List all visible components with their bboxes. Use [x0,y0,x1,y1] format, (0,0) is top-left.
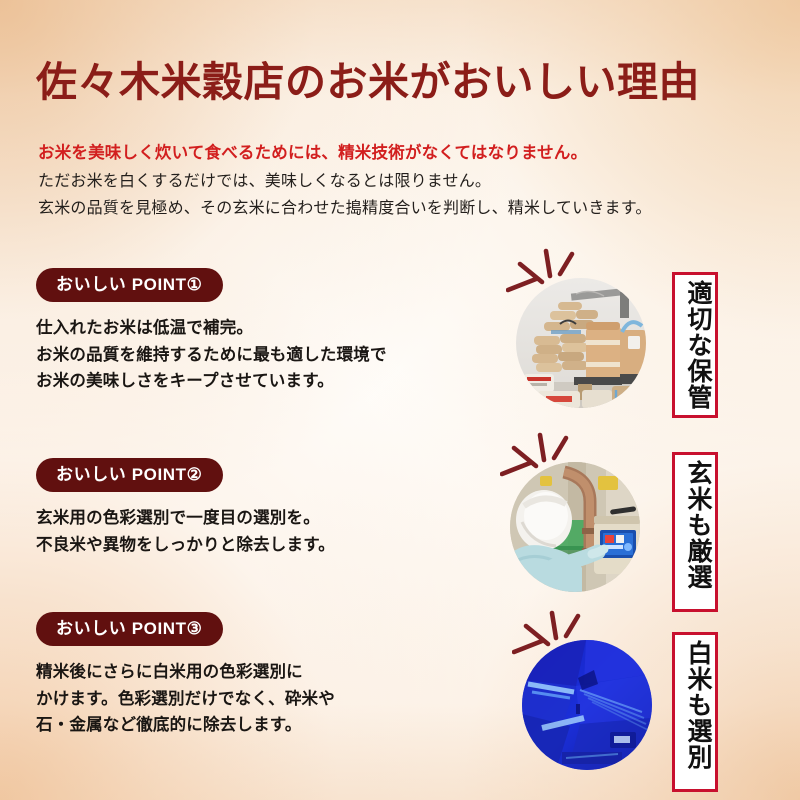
point-body-1-line-3: お米の美味しさをキープさせています。 [36,368,387,395]
promo-page: 佐々木米穀店のお米がおいしい理由 お米を美味しく炊いて食べるためには、精米技術が… [0,0,800,800]
point-badge-1: おいしい POINT① [36,268,223,302]
vertical-label-text-1: 適切な保管 [678,280,712,410]
point-body-3-line-1: 精米後にさらに白米用の色彩選別に [36,659,335,686]
subtitle-line-1: お米を美味しく炊いて食べるためには、精米技術がなくてはなりません。 [38,139,587,163]
point-body-2-line-1: 玄米用の色彩選別で一度目の選別を。 [36,505,335,532]
point-block-3: おいしい POINT③ 精米後にさらに白米用の色彩選別に かけます。色彩選別だけ… [36,612,335,739]
subtitle-line-3: 玄米の品質を見極め、その玄米に合わせた搗精度合いを判断し、精米していきます。 [38,194,652,218]
point-body-3: 精米後にさらに白米用の色彩選別に かけます。色彩選別だけでなく、砕米や 石・金属… [36,659,335,739]
point-body-3-line-2: かけます。色彩選別だけでなく、砕米や [36,686,335,713]
point-body-3-line-3: 石・金属など徹底的に除去します。 [36,712,335,739]
point-photo-2 [510,462,640,592]
vertical-label-box-2: 玄米も厳選 [672,452,718,612]
point-body-2-line-2: 不良米や異物をしっかりと除去します。 [36,532,335,559]
point-block-1: おいしい POINT① 仕入れたお米は低温で補完。 お米の品質を維持するために最… [36,268,387,395]
vertical-label-box-3: 白米も選別 [672,632,718,792]
point-block-2: おいしい POINT② 玄米用の色彩選別で一度目の選別を。 不良米や異物をしっか… [36,458,335,558]
subtitle-line-2: ただお米を白くするだけでは、美味しくなるとは限りません。 [38,167,491,191]
point-body-2: 玄米用の色彩選別で一度目の選別を。 不良米や異物をしっかりと除去します。 [36,505,335,558]
point-body-1-line-2: お米の品質を維持するために最も適した環境で [36,342,387,369]
point-badge-2: おいしい POINT② [36,458,223,492]
point-body-1-line-1: 仕入れたお米は低温で補完。 [36,315,387,342]
point-photo-1 [516,278,646,408]
vertical-label-box-1: 適切な保管 [672,272,718,418]
point-photo-3 [522,640,652,770]
vertical-label-text-2: 玄米も厳選 [678,460,712,590]
vertical-label-text-3: 白米も選別 [678,640,712,770]
page-title: 佐々木米穀店のお米がおいしい理由 [36,62,700,103]
point-badge-3: おいしい POINT③ [36,612,223,646]
point-body-1: 仕入れたお米は低温で補完。 お米の品質を維持するために最も適した環境で お米の美… [36,315,387,395]
